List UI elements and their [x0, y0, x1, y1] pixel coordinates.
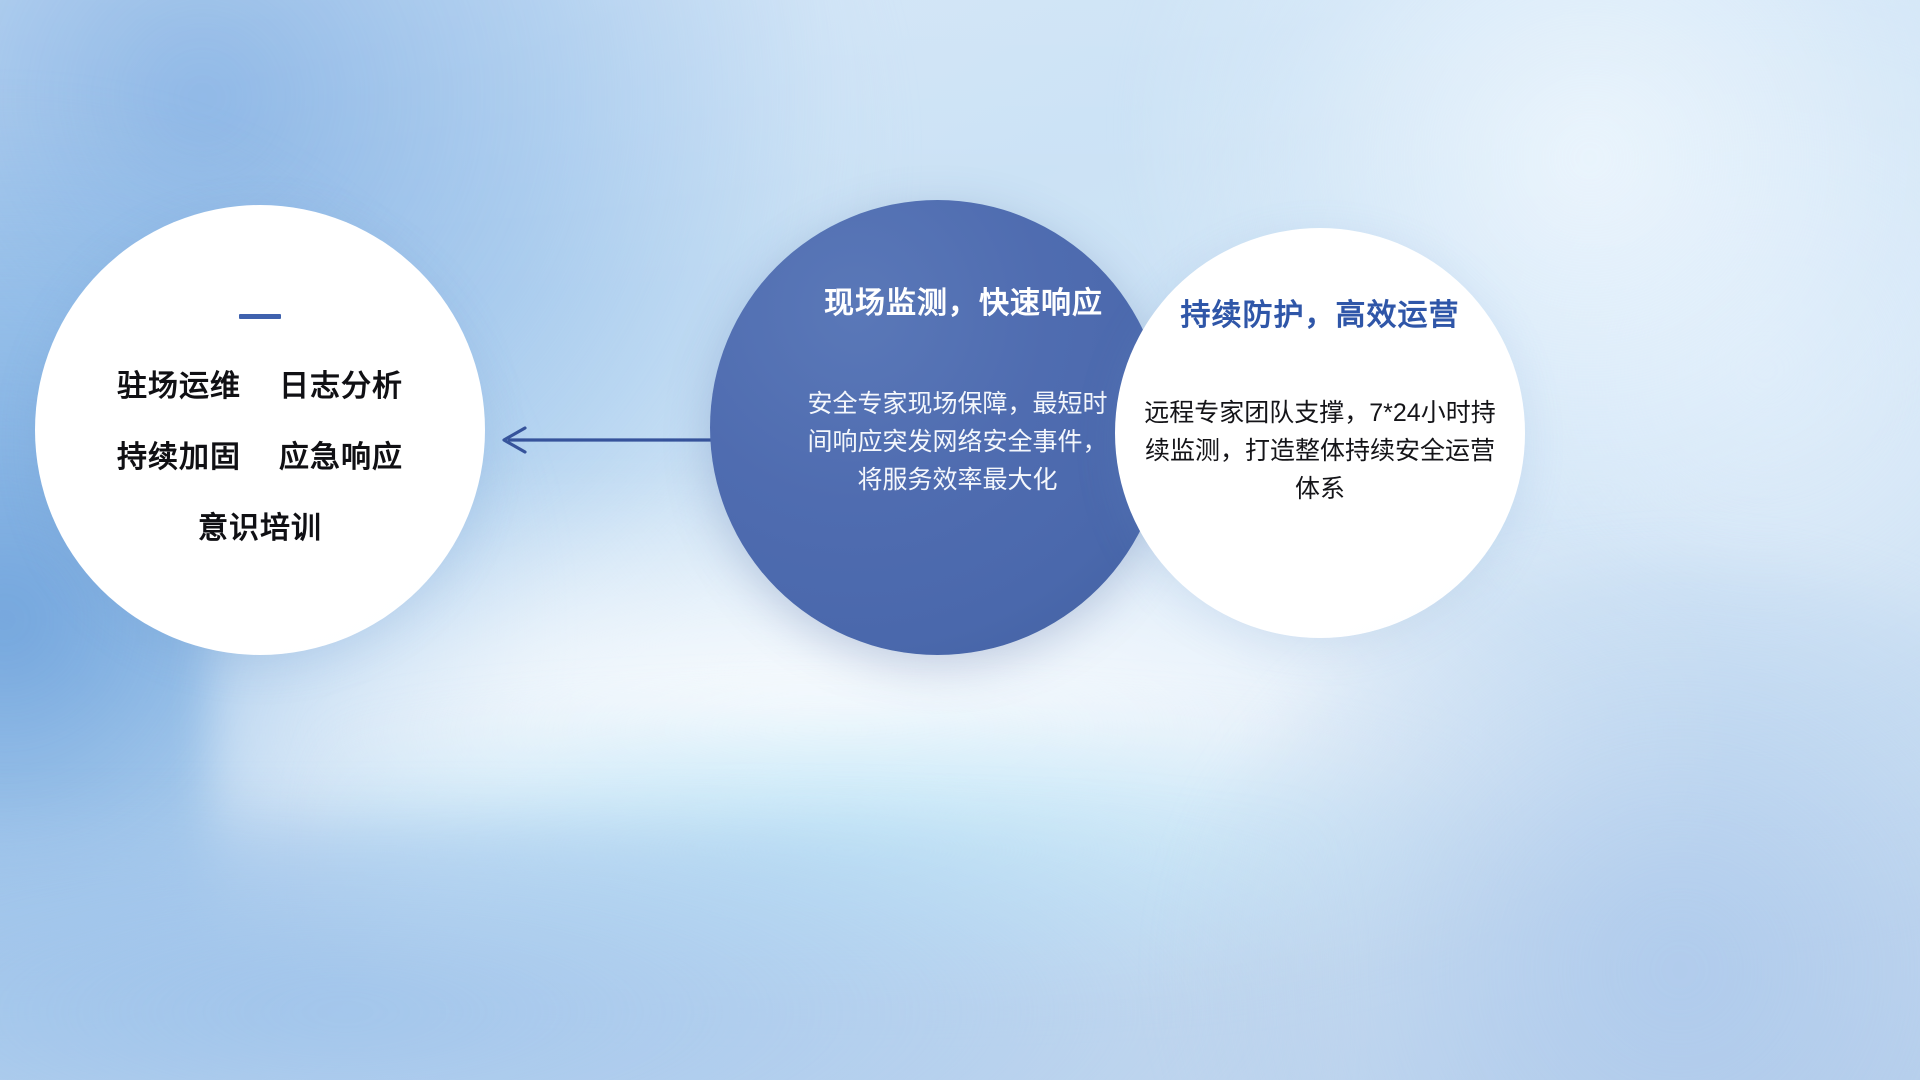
- capability-tag-row: 持续加固 应急响应: [117, 432, 403, 476]
- capability-tag-row: 驻场运维 日志分析: [117, 361, 403, 405]
- capability-tag-row: 意识培训: [198, 503, 322, 547]
- circle-right-body: 远程专家团队支撑，7*24小时持续监测，打造整体持续安全运营体系: [1140, 394, 1500, 508]
- capability-tag: 应急响应: [279, 432, 403, 476]
- capability-circle-right-content: 持续防护，高效运营 远程专家团队支撑，7*24小时持续监测，打造整体持续安全运营…: [1115, 228, 1525, 638]
- capability-circle-left[interactable]: 驻场运维 日志分析 持续加固 应急响应 意识培训: [35, 205, 485, 655]
- circle-middle-body: 安全专家现场保障，最短时间响应突发网络安全事件，将服务效率最大化: [808, 385, 1108, 499]
- circle-right-title: 持续防护，高效运营: [1181, 290, 1460, 334]
- capability-circle-middle[interactable]: 现场监测，快速响应 安全专家现场保障，最短时间响应突发网络安全事件，将服务效率最…: [710, 200, 1165, 655]
- capability-tag-list: 驻场运维 日志分析 持续加固 应急响应 意识培训: [117, 361, 403, 547]
- capability-circle-left-content: 驻场运维 日志分析 持续加固 应急响应 意识培训: [35, 205, 485, 655]
- capability-circle-right[interactable]: 持续防护，高效运营 远程专家团队支撑，7*24小时持续监测，打造整体持续安全运营…: [1115, 228, 1525, 638]
- capability-tag: 持续加固: [117, 432, 241, 476]
- capability-tag: 驻场运维: [117, 361, 241, 405]
- capability-circle-middle-content: 现场监测，快速响应 安全专家现场保障，最短时间响应突发网络安全事件，将服务效率最…: [710, 200, 1165, 655]
- circle-middle-title: 现场监测，快速响应: [824, 278, 1103, 322]
- capability-tag: 日志分析: [279, 361, 403, 405]
- capability-tag: 意识培训: [198, 503, 322, 547]
- title-divider-dash: [239, 314, 281, 319]
